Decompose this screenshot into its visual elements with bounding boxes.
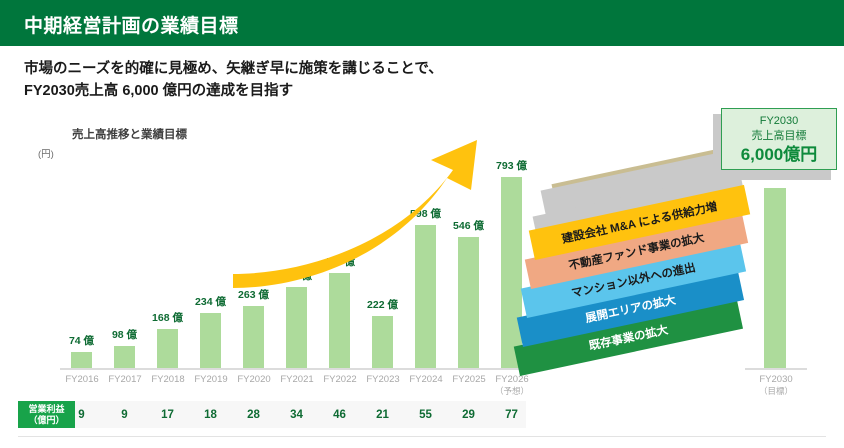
x-axis-tick-year: FY2020: [237, 374, 270, 385]
bar-slot: 74 億: [60, 150, 103, 370]
target-x-axis-year: FY2030: [759, 374, 792, 385]
x-axis-tick-year: FY2021: [280, 374, 313, 385]
bottom-divider: [18, 436, 826, 437]
bar-value-label: 793 億: [490, 158, 533, 173]
chart-bar: [157, 329, 178, 370]
chart-baseline: [60, 368, 526, 370]
subtitle-line-2: FY2030売上高 6,000 億円の達成を目指す: [24, 80, 443, 102]
bar-slot: 342 億: [275, 150, 318, 370]
bar-slot: 234 億: [189, 150, 232, 370]
x-axis-tick-year: FY2019: [194, 374, 227, 385]
operating-profit-cell: 9: [103, 401, 146, 428]
bar-slot: 400 億: [318, 150, 361, 370]
bar-slot: 546 億: [447, 150, 490, 370]
target-callout-value: 6,000億円: [722, 144, 836, 165]
operating-profit-cell: 28: [232, 401, 275, 428]
x-axis-tick-year: FY2016: [65, 374, 98, 385]
bar-value-label: 74 億: [60, 333, 103, 348]
operating-profit-cell: 55: [404, 401, 447, 428]
bar-slot: 598 億: [404, 150, 447, 370]
bar-value-label: 342 億: [275, 268, 318, 283]
chart-bar: [372, 316, 393, 370]
x-axis-tick-note: （予想）: [484, 386, 540, 397]
target-x-axis-note: （目標）: [738, 386, 814, 397]
operating-profit-cell: 46: [318, 401, 361, 428]
bar-value-label: 546 億: [447, 218, 490, 233]
chart-bar: [458, 237, 479, 370]
bar-value-label: 168 億: [146, 310, 189, 325]
x-axis-tick-year: FY2017: [108, 374, 141, 385]
bar-value-label: 598 億: [404, 206, 447, 221]
chart-bar: [415, 225, 436, 370]
operating-profit-cell: 9: [60, 401, 103, 428]
chart-bar: [286, 287, 307, 370]
chart-bar: [200, 313, 221, 370]
operating-profit-cell: 77: [490, 401, 533, 428]
target-callout-year: FY2030: [722, 114, 836, 129]
operating-profit-cell: 17: [146, 401, 189, 428]
bar-value-label: 234 億: [189, 294, 232, 309]
target-x-axis-label: FY2030 （目標）: [738, 374, 814, 397]
strategy-bands-stack: 既存事業の拡大展開エリアの拡大マンション以外への進出不動産ファンド事業の拡大建設…: [520, 186, 770, 381]
bar-value-label: 263 億: [232, 287, 275, 302]
target-bar: [764, 188, 786, 368]
bar-value-label: 98 億: [103, 327, 146, 342]
page-title: 中期経営計画の業績目標: [24, 11, 239, 38]
bar-slot: 98 億: [103, 150, 146, 370]
target-callout-caption: 売上高目標: [722, 129, 836, 144]
target-bar-baseline: [745, 368, 807, 370]
slide-root: 中期経営計画の業績目標 市場のニーズを的確に見極め、矢継ぎ早に施策を講じることで…: [0, 0, 844, 448]
target-callout-box: FY2030 売上高目標 6,000億円: [721, 108, 837, 170]
operating-profit-table: 営業利益 （億円） 99171828344621552977: [18, 401, 526, 428]
bar-chart-plot: 74 億98 億168 億234 億263 億342 億400 億222 億59…: [60, 150, 530, 370]
chart-bar: [501, 177, 522, 370]
operating-profit-cell: 18: [189, 401, 232, 428]
chart-bar: [114, 346, 135, 370]
chart-bar: [243, 306, 264, 370]
chart-title: 売上高推移と業績目標: [72, 126, 187, 142]
operating-profit-cell: 21: [361, 401, 404, 428]
x-axis-tick-year: FY2022: [323, 374, 356, 385]
y-axis-unit-label: (円): [38, 146, 54, 160]
bar-value-label: 400 億: [318, 254, 361, 269]
subtitle-line-1: 市場のニーズを的確に見極め、矢継ぎ早に施策を講じることで、: [24, 58, 443, 80]
x-axis-tick-year: FY2023: [366, 374, 399, 385]
bar-slot: 168 億: [146, 150, 189, 370]
slide-header: 中期経営計画の業績目標: [0, 0, 844, 46]
x-axis-tick-year: FY2024: [409, 374, 442, 385]
subtitle-block: 市場のニーズを的確に見極め、矢継ぎ早に施策を講じることで、 FY2030売上高 …: [24, 58, 443, 103]
bar-slot: 222 億: [361, 150, 404, 370]
bar-value-label: 222 億: [361, 297, 404, 312]
bar-slot: 263 億: [232, 150, 275, 370]
x-axis-tick-year: FY2025: [452, 374, 485, 385]
x-axis-tick-year: FY2018: [151, 374, 184, 385]
operating-profit-cell: 34: [275, 401, 318, 428]
chart-bar: [329, 273, 350, 370]
operating-profit-cell: 29: [447, 401, 490, 428]
